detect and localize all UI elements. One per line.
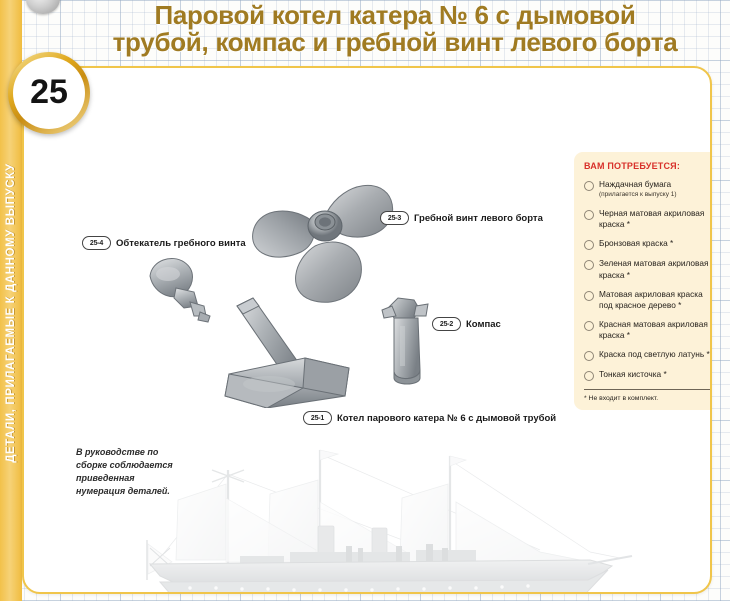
material-label: Бронзовая краска * (599, 238, 673, 249)
material-label: Тонкая кисточка * (599, 369, 667, 380)
sidebar-spine-label: ДЕТАЛИ, ПРИЛАГАЕМЫЕ К ДАННОМУ ВЫПУСКУ (5, 163, 17, 463)
list-item[interactable]: Тонкая кисточка * (584, 369, 712, 381)
callout-propeller: 25-3 Гребной винт левого борта (380, 211, 543, 225)
checkbox-circle-icon[interactable] (584, 240, 594, 250)
material-label: Наждачная бумага (599, 179, 671, 189)
callout-compass-label: Компас (466, 319, 501, 330)
callout-cone: 25-4 Обтекатель гребного винта (82, 236, 246, 250)
materials-panel: ВАМ ПОТРЕБУЕТСЯ: Наждачная бумага (прила… (574, 152, 712, 410)
checkbox-circle-icon[interactable] (584, 260, 594, 270)
list-item[interactable]: Черная матовая акриловая краска * (584, 208, 712, 230)
ship-model-illustration (120, 440, 640, 594)
material-subnote: (прилагается к выпуску 1) (599, 191, 677, 200)
checkbox-circle-icon[interactable] (584, 321, 594, 331)
material-label: Краска под светлую латунь * (599, 349, 710, 360)
materials-heading: ВАМ ПОТРЕБУЕТСЯ: (584, 161, 712, 171)
checkbox-circle-icon[interactable] (584, 181, 594, 191)
callout-propeller-label: Гребной винт левого борта (414, 213, 543, 224)
steam-boiler-image (209, 296, 369, 408)
callout-cone-label: Обтекатель гребного винта (116, 238, 246, 249)
material-label: Зеленая матовая акриловая краска * (599, 258, 712, 280)
list-item[interactable]: Зеленая матовая акриловая краска * (584, 258, 712, 280)
material-label: Матовая акриловая краска под красное дер… (599, 289, 712, 311)
callout-propeller-number: 25-3 (380, 211, 409, 225)
materials-footnote: * Не входит в комплект. (584, 395, 712, 402)
callout-boiler: 25-1 Котел парового катера № 6 с дымовой… (303, 411, 556, 425)
three-blade-propeller-image (249, 164, 399, 304)
divider (584, 389, 712, 390)
callout-cone-number: 25-4 (82, 236, 111, 250)
list-item[interactable]: Бронзовая краска * (584, 238, 712, 250)
list-item[interactable]: Краска под светлую латунь * (584, 349, 712, 361)
issue-number-badge: 25 (8, 52, 90, 134)
page-title: Паровой котел катера № 6 с дымовой трубо… (70, 2, 720, 57)
callout-compass-number: 25-2 (432, 317, 461, 331)
list-item[interactable]: Красная матовая акриловая краска * (584, 319, 712, 341)
checkbox-circle-icon[interactable] (584, 371, 594, 381)
material-label: Красная матовая акриловая краска * (599, 319, 712, 341)
compass-part-image (374, 294, 436, 386)
callout-compass: 25-2 Компас (432, 317, 501, 331)
callout-boiler-label: Котел парового катера № 6 с дымовой труб… (337, 413, 556, 424)
content-card: 25-3 Гребной винт левого борта 25-4 Обте… (22, 66, 712, 594)
checkbox-circle-icon[interactable] (584, 210, 594, 220)
checkbox-circle-icon[interactable] (584, 351, 594, 361)
callout-boiler-number: 25-1 (303, 411, 332, 425)
checkbox-circle-icon[interactable] (584, 291, 594, 301)
issue-number-value: 25 (30, 75, 68, 109)
list-item[interactable]: Наждачная бумага (прилагается к выпуску … (584, 179, 712, 200)
page-title-line1: Паровой котел катера № 6 с дымовой (154, 0, 635, 30)
list-item[interactable]: Матовая акриловая краска под красное дер… (584, 289, 712, 311)
page-title-line2: трубой, компас и гребной винт левого бор… (70, 29, 720, 56)
material-label: Черная матовая акриловая краска * (599, 208, 712, 230)
